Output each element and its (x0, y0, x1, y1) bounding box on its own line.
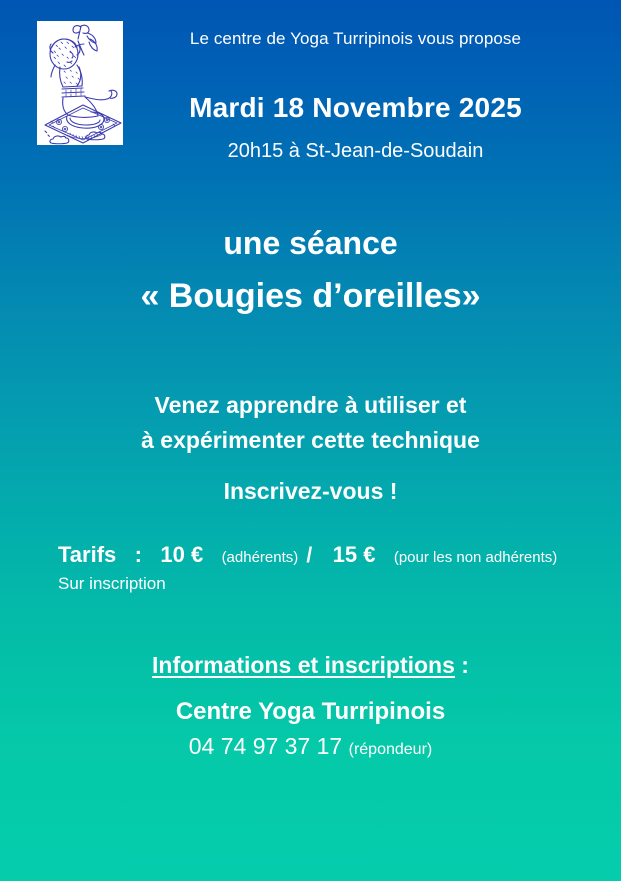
call-to-action: Inscrivez-vous ! (0, 478, 621, 505)
registration-note: Sur inscription (58, 574, 598, 594)
event-date: Mardi 18 Novembre 2025 (0, 92, 621, 124)
contact-phone-number: 04 74 97 37 17 (189, 733, 342, 759)
pricing-colon: : (135, 542, 142, 567)
pricing-label: Tarifs (58, 542, 116, 567)
contact-organization: Centre Yoga Turripinois (0, 698, 621, 726)
session-title: « Bougies d’oreilles» (0, 277, 621, 316)
event-place-time: 20h15 à St-Jean-de-Soudain (0, 140, 621, 163)
promo-line-2: à expérimenter cette technique (0, 427, 621, 454)
price-nonmember: 15 € (333, 542, 376, 567)
session-label: une séance (0, 225, 621, 262)
contact-heading: Informations et inscriptions : (0, 652, 621, 679)
contact-phone-line: 04 74 97 37 17 (répondeur) (0, 733, 621, 760)
price-separator: / (304, 544, 314, 567)
tagline: Le centre de Yoga Turripinois vous propo… (0, 29, 621, 49)
yoga-event-poster: Le centre de Yoga Turripinois vous propo… (0, 0, 621, 881)
pricing-block: Tarifs : 10 € (adhérents) / 15 € (pour l… (58, 543, 598, 594)
price-member: 10 € (160, 542, 203, 567)
contact-heading-colon: : (461, 652, 469, 678)
price-member-note: (adhérents) (222, 549, 299, 566)
contact-phone-note: (répondeur) (349, 741, 433, 758)
contact-heading-text: Informations et inscriptions (152, 652, 455, 678)
promo-line-1: Venez apprendre à utiliser et (0, 392, 621, 419)
pricing-line: Tarifs : 10 € (adhérents) / 15 € (pour l… (58, 543, 598, 567)
price-nonmember-note: (pour les non adhérents) (394, 549, 557, 566)
